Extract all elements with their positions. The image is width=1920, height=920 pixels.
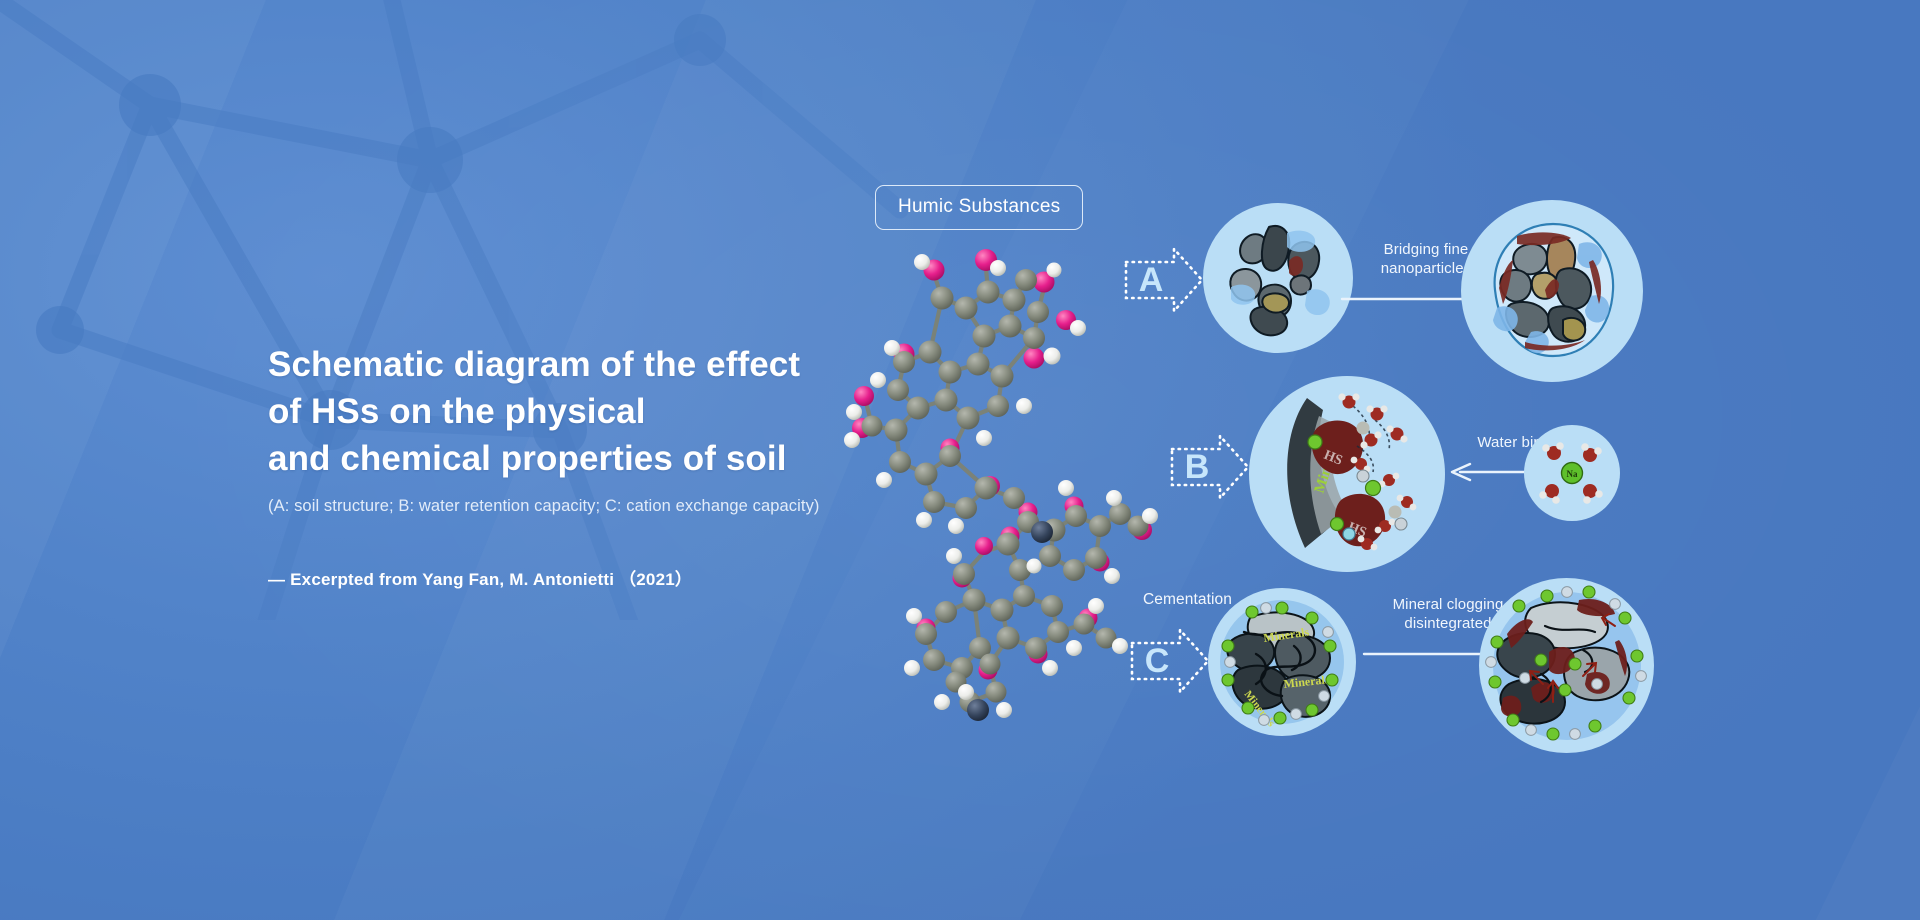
- step-letter-b-wrap: B: [1168, 430, 1252, 504]
- step-letter-a-wrap: A: [1122, 243, 1206, 317]
- circle-humic-mineral-water-complex: Mineral HS HS: [1249, 376, 1445, 572]
- circle-hydrated-sodium-ion: Na: [1524, 425, 1620, 521]
- circle-cemented-mineral-cluster: Minerals Minerals Minerals: [1208, 588, 1356, 736]
- infographic-canvas: Schematic diagram of the effect of HSs o…: [0, 0, 1920, 920]
- circle-disintegrated-mineral-cluster: [1479, 578, 1654, 753]
- humic-substance-molecule-icon: [838, 230, 1168, 730]
- label-cementation: Cementation: [1143, 591, 1232, 609]
- step-letter-a: A: [1128, 263, 1174, 297]
- humic-substances-badge: Humic Substances: [875, 185, 1083, 230]
- label-sodium-ion: Na: [1567, 469, 1578, 479]
- step-letter-c-wrap: C: [1128, 624, 1212, 698]
- circle-bound-soil-aggregate: [1461, 200, 1643, 382]
- step-letter-b: B: [1174, 450, 1220, 484]
- diagram-area: Humic Substances: [0, 0, 1920, 920]
- step-letter-c: C: [1134, 644, 1180, 678]
